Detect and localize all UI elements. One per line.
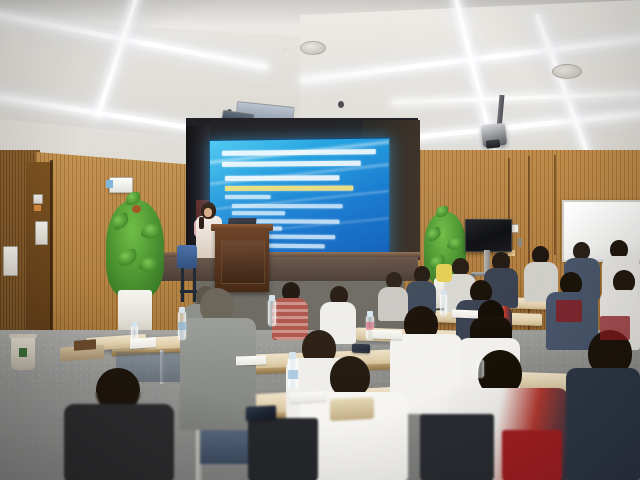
bottle-cap-icon — [441, 290, 446, 295]
chair[interactable] — [420, 414, 494, 480]
smartphone[interactable] — [246, 405, 276, 421]
notebook-cover — [74, 339, 96, 351]
waste-bin-lid — [9, 334, 37, 338]
smartphone[interactable] — [352, 344, 370, 354]
plant-flower — [132, 205, 141, 213]
presenter-hair-strand — [199, 217, 204, 229]
door-handle-icon[interactable] — [518, 238, 522, 247]
bag[interactable] — [330, 397, 374, 421]
bar-stool-footrail — [180, 290, 197, 293]
chair[interactable] — [248, 418, 318, 480]
handout-paper[interactable] — [130, 337, 156, 349]
wall-indicator-icon — [34, 205, 41, 211]
audience-shirt-stripes — [272, 300, 308, 340]
bottle-cap-icon — [367, 311, 373, 317]
smoke-detector-icon — [282, 46, 287, 51]
slide-heading-line — [225, 175, 339, 181]
slide-body-line — [232, 211, 285, 215]
wall-switch[interactable] — [33, 194, 43, 204]
chair-red[interactable] — [600, 316, 630, 340]
bar-stool-leg — [181, 268, 184, 302]
audience-torso-front — [180, 318, 256, 430]
handout-paper[interactable] — [452, 310, 478, 319]
chair-red[interactable] — [556, 300, 582, 322]
bottle-label — [178, 322, 186, 330]
handout-paper[interactable] — [236, 355, 266, 365]
slide-title-line — [222, 149, 376, 156]
flat-screen-monitor[interactable] — [465, 219, 512, 252]
bottle-cap-icon — [269, 295, 275, 301]
chair-red[interactable] — [502, 430, 562, 480]
audience-torso-front — [64, 404, 174, 480]
bottle-cap-icon — [289, 352, 296, 359]
conference-room-photo — [0, 0, 640, 480]
audience-torso-front — [566, 368, 640, 480]
audience-torso — [436, 264, 452, 282]
bar-stool-seat[interactable] — [177, 245, 197, 269]
projector-lens-icon — [486, 139, 501, 148]
light-switch-plate[interactable] — [35, 221, 48, 245]
slide-body-line — [225, 195, 270, 199]
bottle-cap-icon — [132, 322, 137, 327]
water-bottle[interactable] — [440, 294, 447, 316]
slide-accent-line — [225, 185, 353, 190]
bottle-label — [288, 370, 298, 379]
lectern-front-panel — [221, 240, 265, 284]
water-bottle[interactable] — [477, 360, 484, 378]
light-switch-plate[interactable] — [3, 246, 18, 276]
slide-title-line — [222, 160, 361, 166]
smoke-detector-icon — [338, 101, 344, 108]
handout-paper[interactable] — [290, 391, 326, 403]
ceiling-speaker-icon — [300, 41, 326, 55]
handout-paper[interactable] — [372, 329, 402, 339]
wall-sign-accent — [106, 180, 113, 188]
presenter-face — [204, 208, 212, 217]
door-seam — [554, 155, 556, 255]
ceiling-speaker-icon — [552, 64, 582, 79]
slide-body-line — [232, 204, 342, 208]
water-bottle[interactable] — [268, 300, 276, 326]
audience-torso — [378, 287, 408, 321]
bottle-cap-icon — [179, 307, 185, 313]
